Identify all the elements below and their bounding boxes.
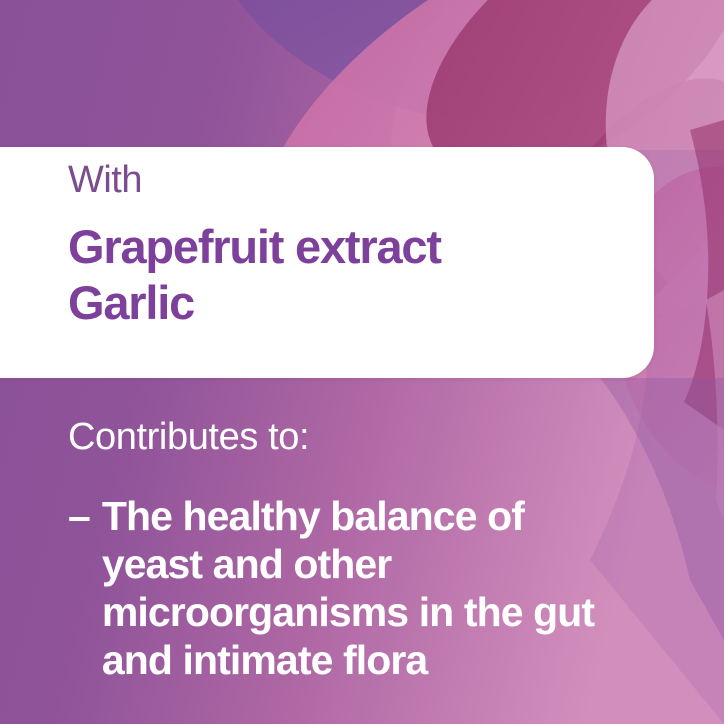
benefit-text-line-2: yeast and other [102,540,594,588]
with-label: With [68,161,142,199]
ingredients-card: With Grapefruit extract Garlic [0,147,654,378]
ingredients-list: Grapefruit extract Garlic [68,219,441,331]
bullet-dash-icon: – [68,492,91,540]
benefit-text-line-1: The healthy balance of [102,492,594,540]
benefit-text-line-4: and intimate flora [102,636,594,684]
benefit-text: The healthy balance of yeast and other m… [102,492,594,684]
product-benefits-banner: With Grapefruit extract Garlic Contribut… [0,0,724,724]
ingredients-card-content: With Grapefruit extract Garlic [68,147,630,378]
benefits-heading: Contributes to: [68,418,694,456]
benefits-section: Contributes to: – The healthy balance of… [68,418,694,684]
ingredient-line-1: Grapefruit extract [68,219,441,275]
benefit-list-item: – The healthy balance of yeast and other… [68,492,694,684]
benefit-text-line-3: microorganisms in the gut [102,588,594,636]
ingredient-line-2: Garlic [68,275,441,331]
